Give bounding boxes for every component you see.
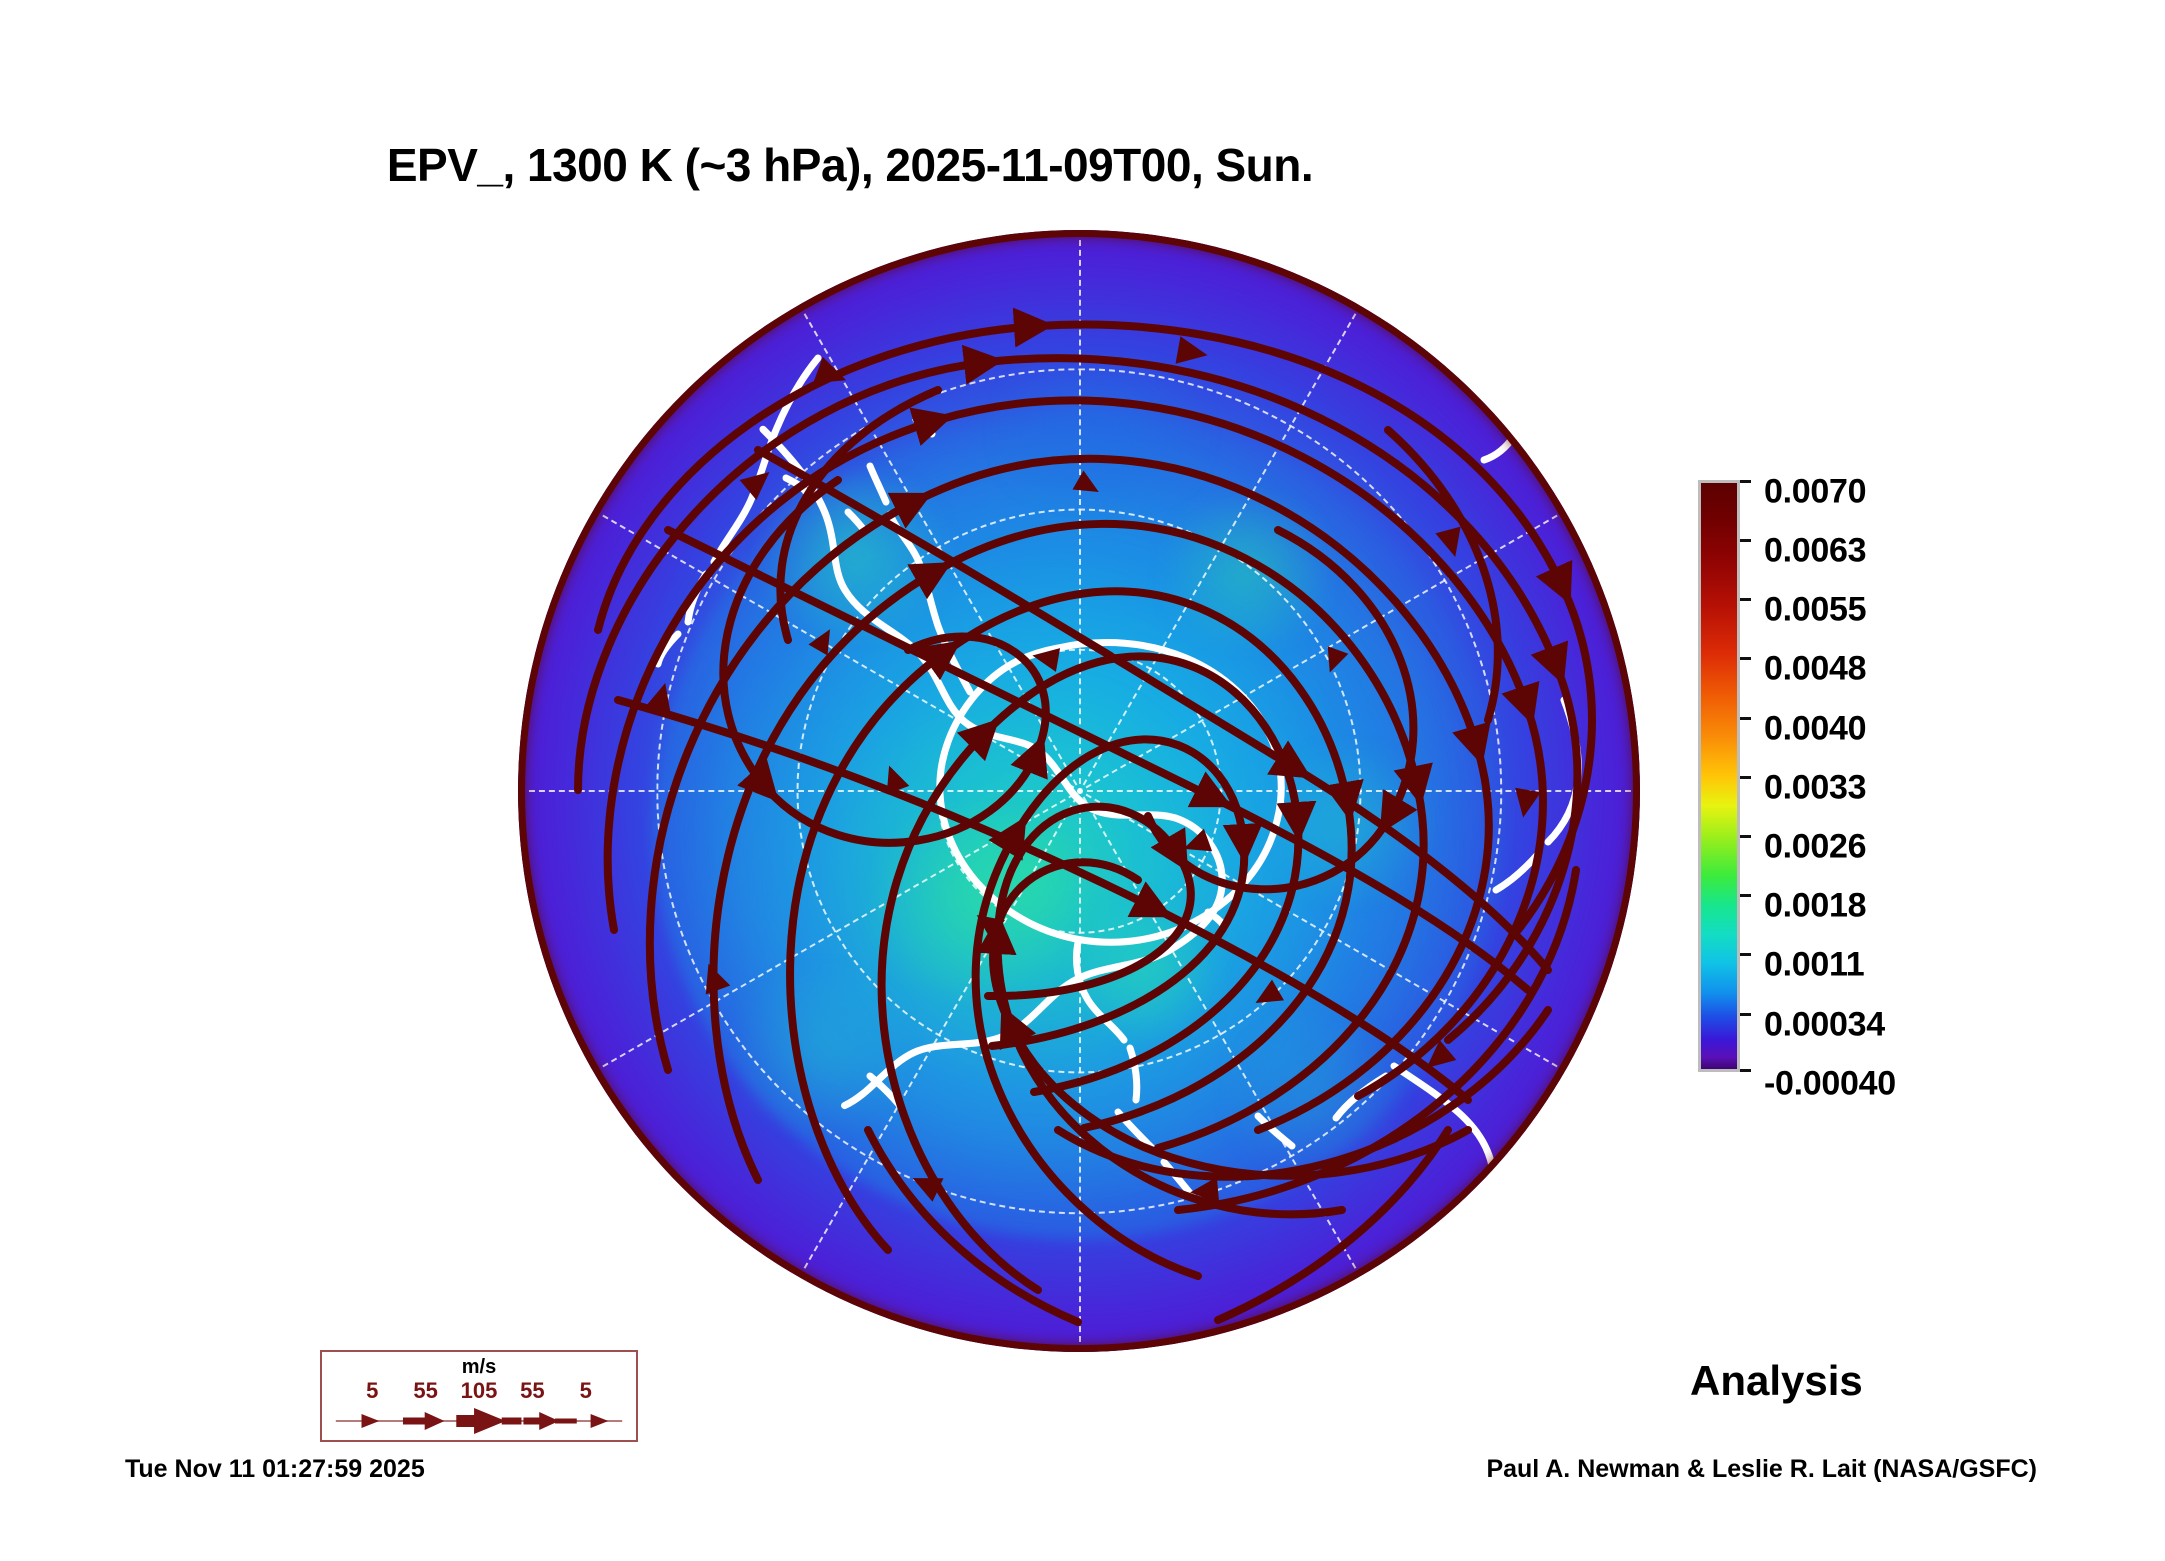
wind-arrow-scale	[322, 1404, 636, 1438]
colorbar-tick	[1740, 835, 1751, 838]
colorbar-label: 0.0070	[1764, 473, 1866, 512]
wind-legend-tick: 5	[580, 1378, 592, 1404]
page-title: EPV_, 1300 K (~3 hPa), 2025-11-09T00, Su…	[0, 138, 1700, 192]
wind-speed-legend: m/s 5 55 105 55 5	[320, 1350, 638, 1442]
colorbar-label: 0.0026	[1764, 828, 1866, 867]
colorbar-label: 0.0018	[1764, 887, 1866, 926]
limb-speckle	[518, 230, 1640, 1352]
colorbar-tick	[1740, 717, 1751, 720]
wind-legend-tick: 55	[413, 1378, 437, 1404]
colorbar-tick	[1740, 1069, 1751, 1072]
colorbar-tick	[1740, 598, 1751, 601]
colorbar-tick	[1740, 480, 1751, 483]
colorbar-label: 0.0048	[1764, 650, 1866, 689]
colorbar-label: 0.0011	[1764, 946, 1864, 985]
generation-timestamp: Tue Nov 11 01:27:59 2025	[125, 1455, 425, 1484]
colorbar-label: 0.0040	[1764, 710, 1866, 749]
colorbar-label: 0.0063	[1764, 532, 1866, 571]
wind-legend-tick: 55	[520, 1378, 544, 1404]
wind-legend-tick: 105	[461, 1378, 498, 1404]
colorbar-label: 0.0055	[1764, 591, 1866, 630]
colorbar-tick	[1740, 776, 1751, 779]
colorbar-tick	[1740, 539, 1751, 542]
globe-disc	[518, 230, 1640, 1352]
colorbar-label: -0.00040	[1764, 1065, 1896, 1104]
colorbar-label: 0.0033	[1764, 769, 1866, 808]
analysis-label: Analysis	[1690, 1357, 1863, 1405]
polar-map-panel[interactable]	[518, 230, 1640, 1352]
wind-legend-tick: 5	[366, 1378, 378, 1404]
colorbar-tick	[1740, 894, 1751, 897]
colorbar-tick	[1740, 657, 1751, 660]
colorbar-tick	[1740, 953, 1751, 956]
author-credit: Paul A. Newman & Leslie R. Lait (NASA/GS…	[1486, 1455, 2037, 1484]
colorbar-label: 0.00034	[1764, 1006, 1885, 1045]
colorbar-tick	[1740, 1013, 1751, 1016]
colorbar-gradient	[1698, 480, 1740, 1072]
colorbar[interactable]: 0.0070 0.0063 0.0055 0.0048 0.0040 0.003…	[1698, 480, 2118, 1080]
wind-legend-units-label: m/s	[322, 1356, 636, 1379]
